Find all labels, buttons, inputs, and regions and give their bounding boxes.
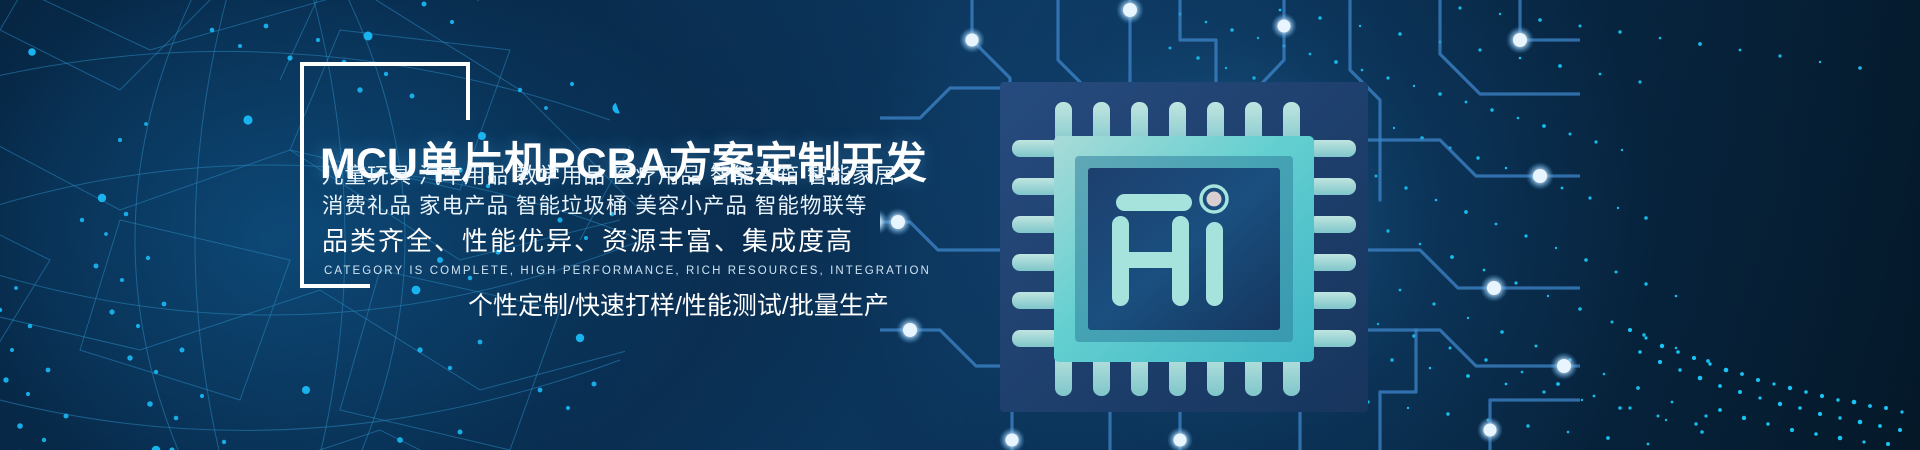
circuit-chip-graphic [880, 0, 1580, 450]
banner-copy-block: MCU单片机PCBA方案定制开发 儿童玩具 汽车用品 教学用品 医疗用品 智能音… [300, 62, 860, 288]
product-categories-line-2: 消费礼品 家电产品 智能垃圾桶 美容小产品 智能物联等 [322, 196, 867, 218]
frame-top-border [300, 62, 470, 66]
product-categories-line-1: 儿童玩具 汽车用品 教学用品 医疗用品 智能音箱 智能家居 [322, 166, 897, 188]
frame-top-right-tick [466, 62, 470, 120]
banner-slogan: 品类齐全、性能优异、资源丰富、集成度高 [322, 228, 854, 254]
chip-package [1000, 82, 1368, 412]
frame-left-border [300, 62, 304, 288]
banner-english-subtitle: CATEGORY IS COMPLETE, HIGH PERFORMANCE, … [324, 266, 931, 278]
banner-services-line: 个性定制/快速打样/性能测试/批量生产 [468, 294, 889, 319]
frame-bottom-border [300, 284, 370, 288]
promotional-banner: MCU单片机PCBA方案定制开发 儿童玩具 汽车用品 教学用品 医疗用品 智能音… [0, 0, 1920, 450]
